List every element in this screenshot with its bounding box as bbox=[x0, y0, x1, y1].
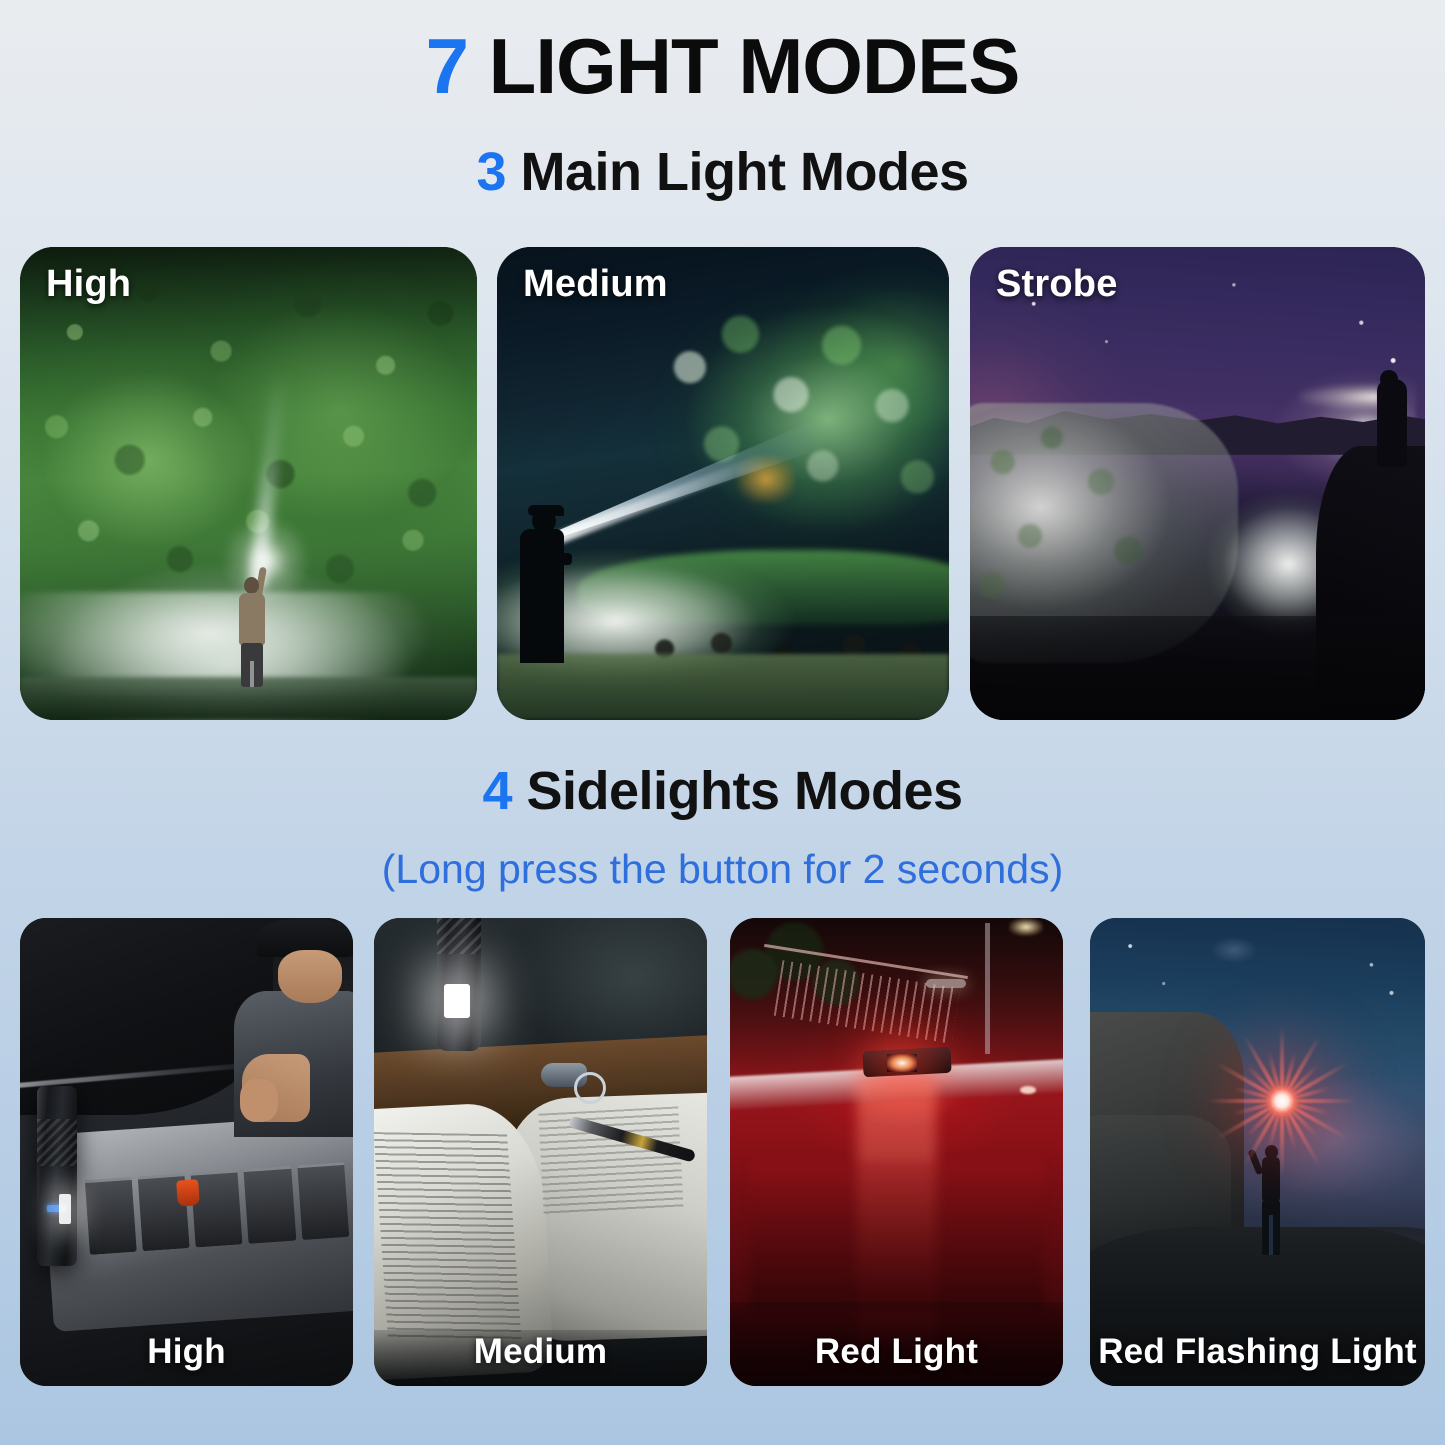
main-modes-heading: 3 Main Light Modes bbox=[0, 143, 1445, 202]
red-engine-cap bbox=[176, 1179, 200, 1206]
photo-high-forest bbox=[20, 247, 477, 720]
photo-red-flashing-cliff bbox=[1090, 918, 1425, 1386]
mechanic bbox=[213, 918, 353, 1161]
torso bbox=[239, 593, 265, 645]
mode-label-high: High bbox=[46, 263, 131, 306]
main-modes-count: 3 bbox=[476, 142, 506, 202]
title-label: LIGHT MODES bbox=[468, 22, 1019, 110]
flashlight-body bbox=[37, 1086, 77, 1266]
sidelight-label-medium: Medium bbox=[374, 1332, 707, 1372]
red-led-glow bbox=[887, 1054, 917, 1072]
sidelight-card-red-flashing: Red Flashing Light bbox=[1090, 918, 1425, 1386]
climber-head bbox=[1380, 370, 1398, 388]
mode-card-strobe: Strobe bbox=[970, 247, 1425, 720]
mode-label-strobe: Strobe bbox=[996, 263, 1118, 306]
photo-strobe-canyon bbox=[970, 247, 1425, 720]
main-modes-label: Main Light Modes bbox=[506, 142, 968, 202]
climber-flashlight-beam bbox=[1300, 384, 1380, 410]
knurled-grip bbox=[437, 918, 481, 954]
sidelight-modes-heading: 4 Sidelights Modes bbox=[0, 762, 1445, 821]
flare-core bbox=[1265, 1084, 1299, 1118]
person-silhouette bbox=[235, 567, 269, 687]
head bbox=[244, 577, 259, 594]
coil bbox=[190, 1169, 242, 1247]
sidelight-card-high: High bbox=[20, 918, 353, 1386]
title-count: 7 bbox=[426, 22, 468, 110]
legs bbox=[241, 643, 263, 687]
sidelight-instruction-note: (Long press the button for 2 seconds) bbox=[0, 845, 1445, 894]
dark-foreground bbox=[970, 616, 1425, 720]
sidelight-panel bbox=[59, 1194, 71, 1224]
sidelight-label-red-flashing: Red Flashing Light bbox=[1090, 1332, 1425, 1372]
coil bbox=[84, 1177, 136, 1255]
mode-label-medium: Medium bbox=[523, 263, 668, 306]
sidelight-card-medium: Medium bbox=[374, 918, 707, 1386]
sidelight-label-high: High bbox=[20, 1332, 353, 1372]
sidelight-modes-label: Sidelights Modes bbox=[512, 761, 963, 821]
key-ring bbox=[574, 1072, 606, 1104]
torso bbox=[1262, 1157, 1280, 1203]
torso bbox=[520, 529, 564, 663]
page-title: 7 LIGHT MODES bbox=[0, 26, 1445, 108]
text-lines-right bbox=[538, 1106, 683, 1216]
hand-holding-flashlight bbox=[556, 553, 572, 565]
text-lines-left bbox=[374, 1132, 521, 1340]
cob-sidelight-panel bbox=[444, 984, 470, 1018]
sidelight-label-red-light: Red Light bbox=[730, 1332, 1063, 1372]
river-strip bbox=[497, 654, 949, 720]
legs bbox=[1262, 1201, 1280, 1255]
mode-card-medium: Medium bbox=[497, 247, 949, 720]
sidelight-modes-count: 4 bbox=[482, 761, 512, 821]
coil bbox=[296, 1162, 348, 1240]
face bbox=[278, 950, 342, 1004]
photo-engine-bay bbox=[20, 918, 353, 1386]
photo-medium-valley bbox=[497, 247, 949, 720]
lens-flare-ghost bbox=[1211, 937, 1257, 963]
hand bbox=[240, 1079, 278, 1123]
street-light-glow bbox=[1009, 918, 1043, 936]
mode-card-high: High bbox=[20, 247, 477, 720]
photo-book-reading bbox=[374, 918, 707, 1386]
photo-red-light-car bbox=[730, 918, 1063, 1386]
climber-silhouette bbox=[1377, 379, 1407, 467]
car-paint-reflection bbox=[750, 1161, 1043, 1311]
coil bbox=[243, 1165, 295, 1243]
sidelight-card-red-light: Red Light bbox=[730, 918, 1063, 1386]
lamp-head bbox=[926, 979, 966, 988]
red-flash-starburst bbox=[1242, 1061, 1322, 1141]
tree-canopy-texture bbox=[633, 285, 949, 559]
lamp-post bbox=[985, 923, 990, 1054]
person-silhouette bbox=[520, 495, 574, 663]
